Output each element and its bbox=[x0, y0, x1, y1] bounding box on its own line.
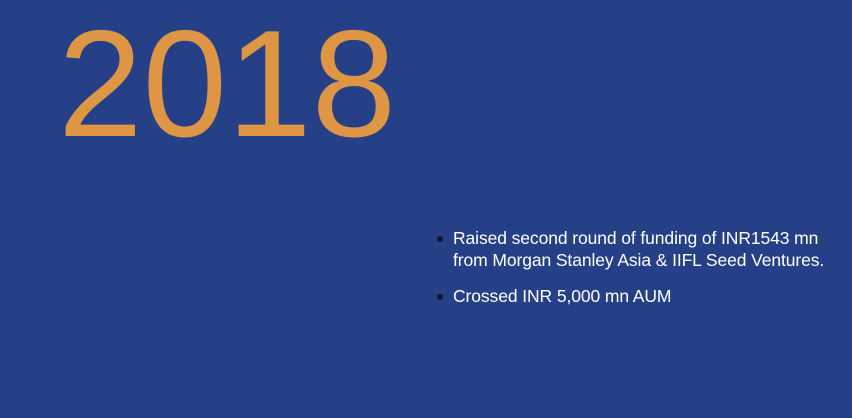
milestone-slide: 2018 Raised second round of funding of I… bbox=[0, 0, 852, 418]
list-item-label: Raised second round of funding of INR154… bbox=[453, 227, 846, 271]
list-item: Raised second round of funding of INR154… bbox=[436, 227, 846, 271]
year-heading-block: 2018 bbox=[58, 8, 478, 178]
milestone-bullet-list: Raised second round of funding of INR154… bbox=[436, 227, 846, 307]
bullet-dot-icon bbox=[437, 294, 443, 300]
page-title: 2018 bbox=[58, 8, 478, 160]
bullet-dot-icon bbox=[437, 236, 443, 242]
list-item: Crossed INR 5,000 mn AUM bbox=[436, 285, 846, 307]
list-item-label: Crossed INR 5,000 mn AUM bbox=[453, 285, 846, 307]
